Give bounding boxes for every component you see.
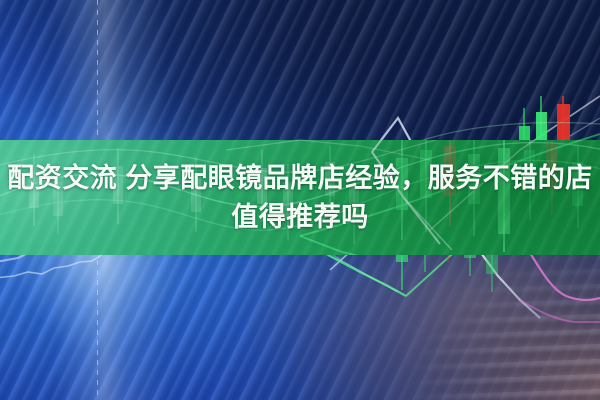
banner-title-block: 配资交流 分享配眼镜品牌店经验，服务不错的店 值得推荐吗	[0, 140, 600, 255]
promo-banner: 配资交流 分享配眼镜品牌店经验，服务不错的店 值得推荐吗	[0, 0, 600, 400]
title-line-2: 值得推荐吗	[231, 200, 369, 235]
title-line-1: 配资交流 分享配眼镜品牌店经验，服务不错的店	[7, 161, 593, 196]
